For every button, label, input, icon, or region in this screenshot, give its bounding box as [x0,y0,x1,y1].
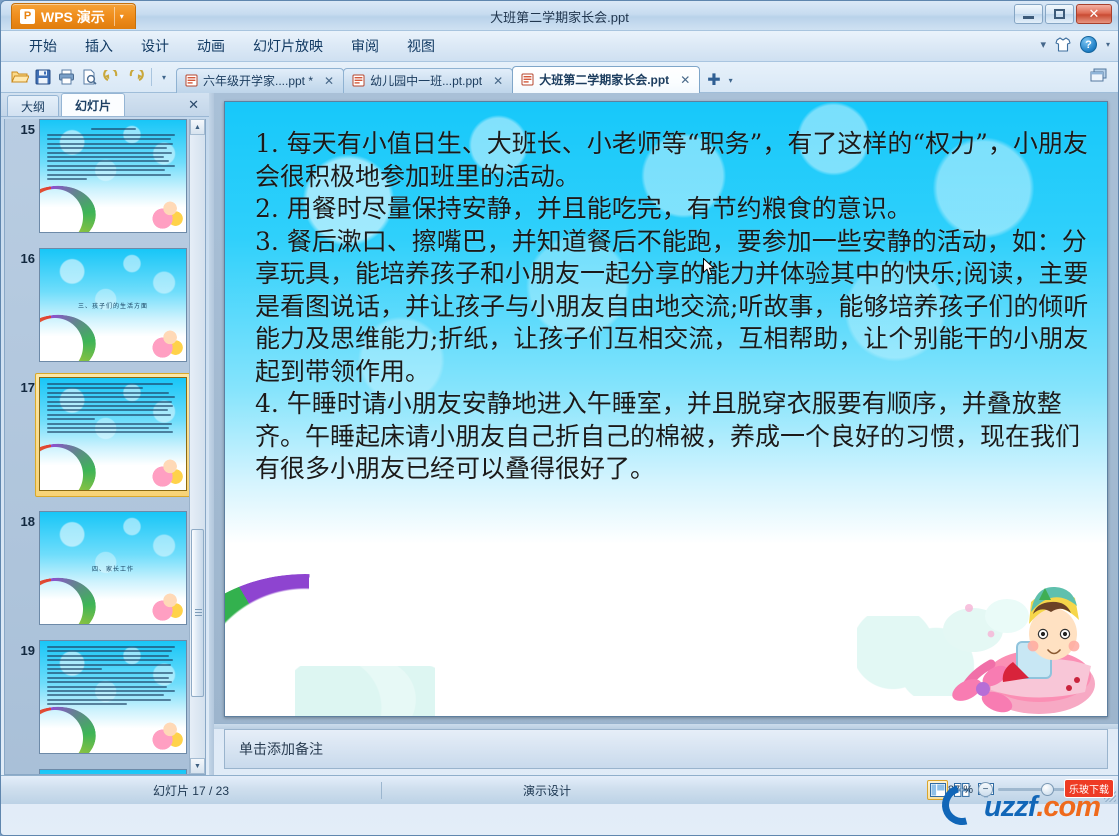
thumbnail-scrollbar[interactable]: ▲ ▼ [189,119,205,774]
menu-item-insert[interactable]: 插入 [71,32,127,60]
zoom-out-button[interactable]: − [978,782,993,797]
thumbnail-item[interactable]: 16 三、孩子们的生活方面 [11,248,189,368]
ppt-file-icon [185,74,198,87]
help-icon[interactable]: ? [1080,36,1097,53]
zoom-percent-label: 87 % [948,784,973,796]
slide-canvas-area[interactable]: 1. 每天有小值日生、大班长、小老师等“职务”，有了这样的“权力”，小朋友会很积… [214,93,1118,723]
thumbnail-number: 18 [11,514,35,529]
tab-slides[interactable]: 幻灯片 [61,93,125,116]
menu-bar: 开始 插入 设计 动画 幻灯片放映 审阅 视图 ▾ ? ▾ [1,31,1118,62]
mouse-cursor-icon [703,258,715,277]
zoom-control[interactable]: 87 % − + [948,782,1110,797]
minimize-icon [1023,16,1034,19]
restore-window-button[interactable] [1088,67,1110,90]
thumbnail-number: 15 [11,122,35,137]
thumbnail-preview [39,119,187,233]
menu-item-design[interactable]: 设计 [127,32,183,60]
slide-canvas[interactable]: 1. 每天有小值日生、大班长、小老师等“职务”，有了这样的“权力”，小朋友会很积… [224,101,1108,717]
title-bar: P WPS 演示 ▾ 大班第二学期家长会.ppt ✕ [1,1,1118,31]
customize-toolbar-caret-icon[interactable]: ▾ [157,67,171,87]
cloud-decoration-icon [295,666,435,717]
document-tab-3-label: 大班第二学期家长会.ppt [539,71,669,88]
navigator-tab-strip: 大纲 幻灯片 ✕ [1,93,209,117]
thumbnail-item-selected[interactable]: 17 [11,377,189,497]
thumbnail-preview [39,640,187,754]
thumbnail-preview [39,377,187,491]
notes-pane[interactable]: 单击添加备注 [224,729,1108,769]
redo-icon[interactable] [124,66,146,88]
close-navigator-icon[interactable]: ✕ [188,97,199,113]
skin-icon[interactable] [1055,37,1071,52]
scroll-down-button[interactable]: ▼ [190,758,205,774]
zoom-slider-thumb[interactable] [1041,783,1054,796]
close-button[interactable]: ✕ [1076,4,1112,24]
thumbnail-list: 15 [4,119,206,775]
slide-counter: 幻灯片 17 / 23 [1,782,381,799]
open-icon[interactable] [9,66,31,88]
menu-item-view[interactable]: 视图 [393,32,449,60]
slide-editor-pane: 1. 每天有小值日生、大班长、小老师等“职务”，有了这样的“权力”，小朋友会很积… [214,93,1118,775]
normal-view-button[interactable] [927,780,948,800]
document-tab-strip: 六年级开学家....ppt * ✕ 幼儿园中一班...pt.ppt ✕ 大班第二… [176,62,742,93]
quick-access-toolbar: ▾ 六年级开学家....ppt * ✕ 幼儿园中一班...pt.ppt ✕ 大班… [1,62,1118,93]
maximize-button[interactable] [1045,4,1074,24]
thumbnail-item[interactable]: 19 [11,640,189,760]
thumbnail-preview: 四、家长工作 [39,511,187,625]
thumbnail-title: 三、孩子们的生活方面 [40,301,186,310]
scroll-up-button[interactable]: ▲ [190,119,205,135]
ppt-file-icon [352,74,365,87]
menu-item-review[interactable]: 审阅 [337,32,393,60]
new-document-tab-button[interactable]: ✚ ▾ [703,69,741,93]
document-tab-1[interactable]: 六年级开学家....ppt * ✕ [176,68,344,93]
menu-item-start[interactable]: 开始 [15,32,71,60]
slide-text-body[interactable]: 1. 每天有小值日生、大班长、小老师等“职务”，有了这样的“权力”，小朋友会很积… [255,128,1089,486]
maximize-icon [1054,9,1065,19]
print-preview-icon[interactable] [78,66,100,88]
thumbnail-number: 16 [11,251,35,266]
thumbnail-item[interactable]: 18 四、家长工作 [11,511,189,631]
thumbnail-preview: 三、孩子们的生活方面 [39,248,187,362]
document-tab-2[interactable]: 幼儿园中一班...pt.ppt ✕ [343,68,513,93]
print-icon[interactable] [55,66,77,88]
thumbnail-item[interactable]: 15 [11,119,189,239]
slide-paragraph-4: 4. 午睡时请小朋友安静地进入午睡室，并且脱穿衣服要有顺序，并叠放整齐。午睡起床… [255,388,1089,486]
plus-icon: ✚ [707,73,720,89]
undo-icon[interactable] [101,66,123,88]
close-icon[interactable]: ✕ [322,74,336,88]
close-icon[interactable]: ✕ [491,74,505,88]
airplane-character-decoration-icon [921,572,1101,717]
ppt-file-icon [521,73,534,86]
document-tab-2-label: 幼儿园中一班...pt.ppt [370,72,482,89]
document-tab-3[interactable]: 大班第二学期家长会.ppt ✕ [512,66,700,93]
scrollbar-thumb[interactable] [191,529,204,697]
menu-bar-right-icons: ▾ ? ▾ [1040,36,1110,53]
slide-navigator-pane: 大纲 幻灯片 ✕ 15 [1,93,209,775]
minimize-button[interactable] [1014,4,1043,24]
window-controls: ✕ [1014,4,1112,24]
chevron-down-icon[interactable]: ▾ [1040,38,1046,51]
tab-outline[interactable]: 大纲 [7,95,59,116]
menu-item-animation[interactable]: 动画 [183,32,239,60]
document-tab-1-label: 六年级开学家....ppt * [203,72,313,89]
slide-paragraph-3: 3. 餐后漱口、擦嘴巴，并知道餐后不能跑，要参加一些安静的活动，如：分享玩具，能… [255,226,1089,389]
zoom-slider-track[interactable] [998,788,1090,791]
workspace: 大纲 幻灯片 ✕ 15 [1,93,1118,775]
notes-placeholder: 单击添加备注 [239,739,323,759]
slide-paragraph-2: 2. 用餐时尽量保持安静，并且能吃完，有节约粮食的意识。 [255,193,1089,226]
toolbar-divider [151,68,152,86]
thumbnail-number: 19 [11,643,35,658]
close-icon[interactable]: ✕ [678,73,692,87]
options-caret-icon[interactable]: ▾ [1106,40,1110,49]
close-icon: ✕ [1089,6,1100,22]
save-icon[interactable] [32,66,54,88]
status-bar: 幻灯片 17 / 23 演示设计 87 % − + [1,775,1118,804]
wps-presentation-window: P WPS 演示 ▾ 大班第二学期家长会.ppt ✕ 开始 插入 设计 动画 幻… [0,0,1119,836]
scrollbar-grip-icon [195,609,202,617]
design-label[interactable]: 演示设计 [382,782,712,799]
thumbnail-strip: 15 [5,119,189,774]
slide-paragraph-1: 1. 每天有小值日生、大班长、小老师等“职务”，有了这样的“权力”，小朋友会很积… [255,128,1089,193]
menu-item-slideshow[interactable]: 幻灯片放映 [239,32,337,60]
thumbnail-number: 17 [11,380,35,395]
window-title: 大班第二学期家长会.ppt [1,7,1118,26]
resize-grip-icon[interactable] [1104,790,1116,802]
thumbnail-title: 四、家长工作 [40,564,186,573]
new-tab-caret-icon[interactable]: ▾ [724,71,738,91]
